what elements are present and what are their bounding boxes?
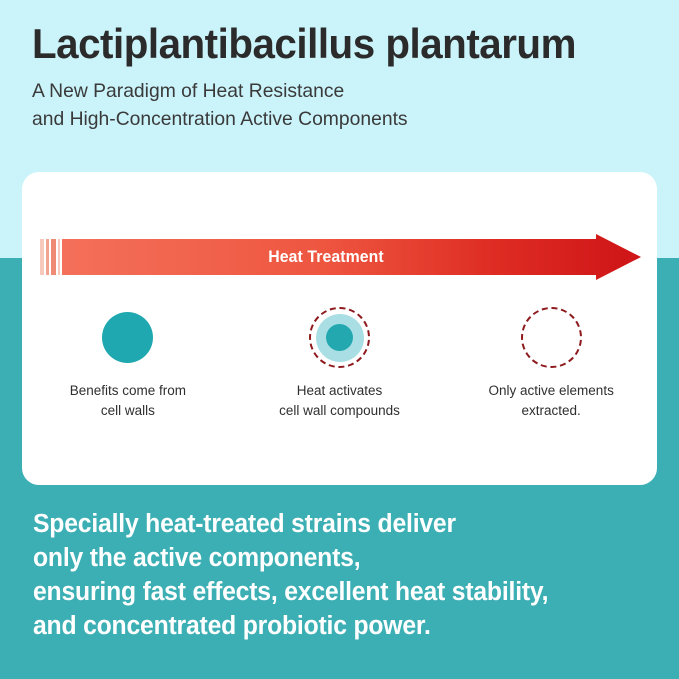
step-1: Benefits come from cell walls bbox=[22, 300, 234, 430]
step-2-caption: Heat activates cell wall compounds bbox=[279, 381, 400, 420]
step-3-caption-line-2: extracted. bbox=[489, 401, 614, 421]
step-2-caption-line-2: cell wall compounds bbox=[279, 401, 400, 421]
dashed-empty-ring-icon bbox=[521, 307, 582, 368]
subtitle-line-2: and High-Concentration Active Components bbox=[32, 106, 666, 134]
step-1-caption-line-2: cell walls bbox=[70, 401, 186, 421]
step-2-icon-area bbox=[309, 300, 370, 375]
heat-treatment-arrow: Heat Treatment bbox=[40, 234, 641, 280]
step-2-caption-line-1: Heat activates bbox=[279, 381, 400, 401]
step-3-icon-area bbox=[521, 300, 582, 375]
statement-line-3: ensuring fast effects, excellent heat st… bbox=[33, 576, 644, 610]
statement-line-1: Specially heat-treated strains deliver bbox=[33, 508, 644, 542]
statement-line-2: only the active components, bbox=[33, 542, 644, 576]
subtitle-line-1: A New Paradigm of Heat Resistance bbox=[32, 78, 666, 106]
teal-core-circle-icon bbox=[326, 324, 353, 351]
step-2: Heat activates cell wall compounds bbox=[234, 300, 446, 430]
step-3-caption: Only active elements extracted. bbox=[489, 381, 614, 420]
light-teal-circle-icon bbox=[316, 314, 364, 362]
dashed-ring-with-teal-core-icon bbox=[309, 307, 370, 368]
step-3: Only active elements extracted. bbox=[445, 300, 657, 430]
header: Lactiplantibacillus plantarum A New Para… bbox=[32, 22, 672, 133]
statement-line-4: and concentrated probiotic power. bbox=[33, 610, 644, 644]
closing-statement: Specially heat-treated strains deliver o… bbox=[33, 508, 663, 644]
step-3-caption-line-1: Only active elements bbox=[489, 381, 614, 401]
steps-row: Benefits come from cell walls Heat activ… bbox=[22, 300, 657, 430]
infographic-stage: Lactiplantibacillus plantarum A New Para… bbox=[0, 0, 679, 679]
step-1-caption: Benefits come from cell walls bbox=[70, 381, 186, 420]
solid-teal-circle-icon bbox=[102, 312, 153, 363]
arrow-shape-icon bbox=[40, 234, 641, 280]
step-1-caption-line-1: Benefits come from bbox=[70, 381, 186, 401]
page-subtitle: A New Paradigm of Heat Resistance and Hi… bbox=[32, 78, 666, 133]
step-1-icon-area bbox=[102, 300, 153, 375]
page-title: Lactiplantibacillus plantarum bbox=[32, 22, 646, 66]
